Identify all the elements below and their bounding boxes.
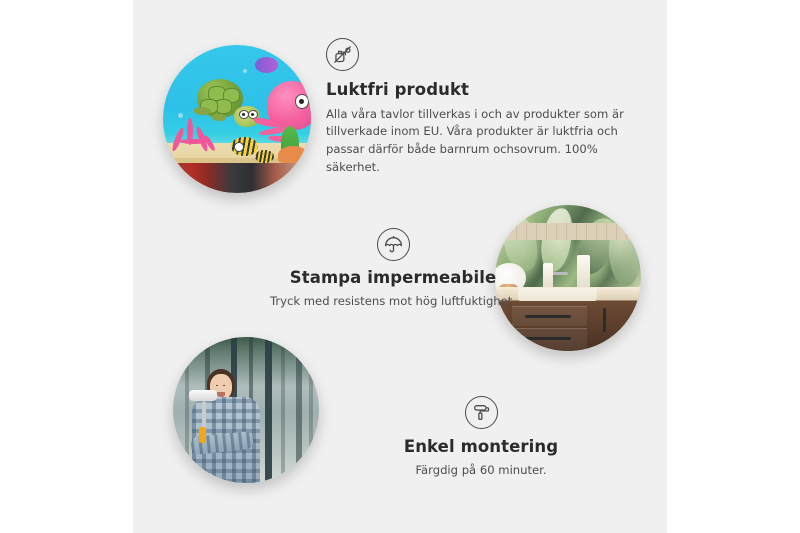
coral-branch bbox=[180, 139, 207, 144]
feature-title: Stampa impermeabile bbox=[223, 268, 563, 288]
woman-with-roller bbox=[188, 366, 270, 483]
content-panel: Luktfri produkt Alla våra tavlor tillver… bbox=[133, 0, 667, 533]
feature-title: Luktfri produkt bbox=[326, 80, 626, 100]
paint-roller-icon bbox=[465, 396, 498, 429]
forest-tree bbox=[309, 337, 313, 483]
woman-smile bbox=[217, 392, 225, 397]
feature-body: Tryck med resistens mot hög luftfuktighe… bbox=[223, 293, 563, 311]
turtle-flipper bbox=[194, 107, 211, 115]
octopus-eye bbox=[295, 94, 309, 109]
feature-block-easy-mounting: Enkel montering Färgdig på 60 minuter. bbox=[331, 396, 631, 479]
feature-image-underwater bbox=[163, 45, 311, 193]
feature-body: Alla våra tavlor tillverkas i och av pro… bbox=[326, 106, 626, 176]
striped-fish bbox=[231, 137, 258, 156]
soap-bottle bbox=[577, 255, 590, 290]
pink-coral bbox=[172, 118, 222, 162]
drawer-handle bbox=[525, 337, 571, 340]
paint-roller-head bbox=[189, 390, 217, 402]
underwater-scene bbox=[163, 45, 311, 193]
feature-body: Färgdig på 60 minuter. bbox=[331, 462, 631, 480]
paint-roller-grip bbox=[199, 427, 206, 443]
woman-eye bbox=[216, 385, 218, 386]
fish-eye bbox=[234, 142, 244, 152]
feature-image-woman-forest bbox=[173, 337, 319, 483]
feature-title: Enkel montering bbox=[331, 437, 631, 457]
forest-tree bbox=[296, 337, 302, 483]
forest-scene bbox=[173, 337, 319, 483]
starfish bbox=[278, 146, 308, 164]
woman-eye bbox=[223, 385, 225, 386]
bottom-image-strip bbox=[163, 163, 311, 193]
drawer-handle bbox=[525, 315, 571, 318]
bubble bbox=[243, 69, 247, 73]
feature-block-waterproof: Stampa impermeabile Tryck med resistens … bbox=[223, 228, 563, 310]
forest-tree bbox=[281, 337, 285, 483]
umbrella-icon bbox=[377, 228, 410, 261]
door-handle bbox=[603, 308, 606, 332]
infographic-page: Luktfri produkt Alla våra tavlor tillver… bbox=[0, 0, 800, 533]
no-fragrance-icon bbox=[326, 38, 359, 71]
feature-block-odour-free: Luktfri produkt Alla våra tavlor tillver… bbox=[326, 38, 626, 176]
